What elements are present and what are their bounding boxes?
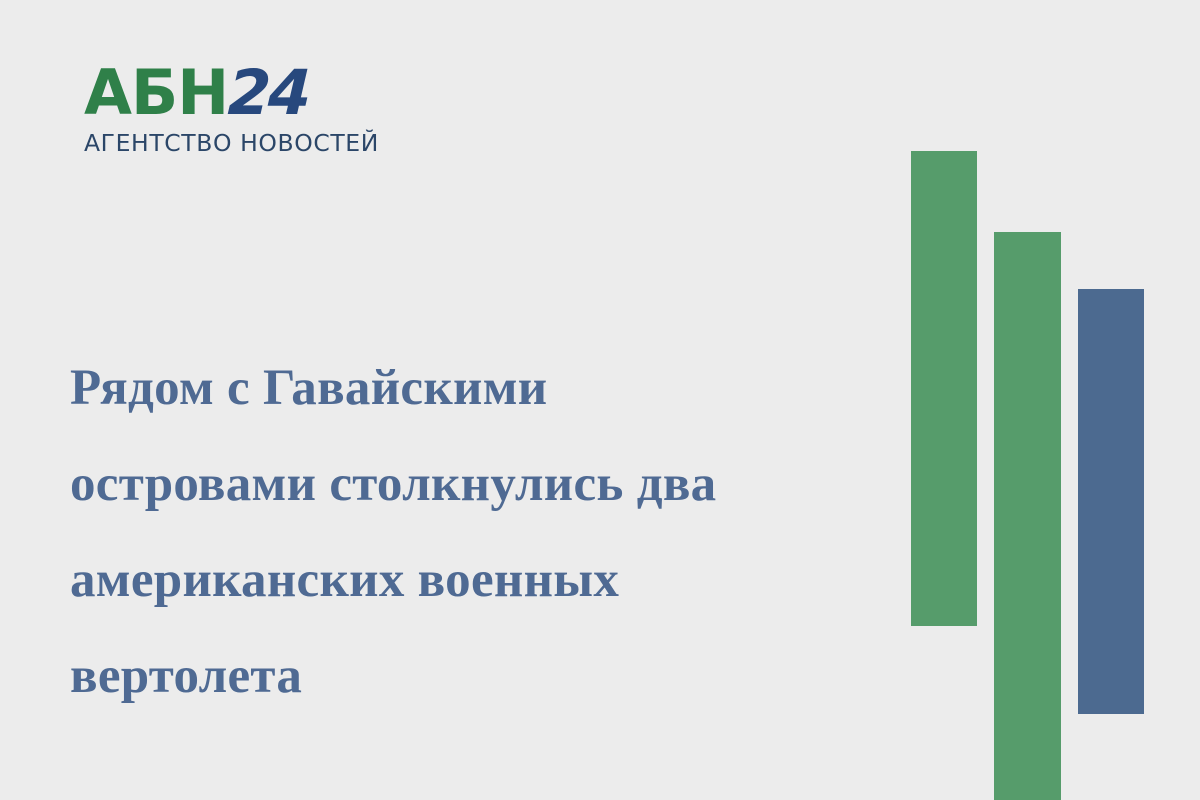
headline-line-4: вертолета (70, 628, 870, 724)
page-title: Рядом с Гавайскими островами столкнулись… (70, 340, 870, 724)
logo-wordmark-abn: АБН (84, 56, 228, 129)
decorative-bar-2 (994, 232, 1061, 800)
headline-line-2: островами столкнулись два (70, 436, 870, 532)
headline-line-3: американских военных (70, 532, 870, 628)
logo-tagline: АГЕНТСТВО НОВОСТЕЙ (84, 130, 384, 156)
logo-wordmark: АБН24 (84, 62, 384, 126)
decorative-bar-3 (1078, 289, 1144, 714)
news-card: АБН24 АГЕНТСТВО НОВОСТЕЙ Рядом с Гавайск… (0, 0, 1200, 800)
headline-line-1: Рядом с Гавайскими (70, 340, 870, 436)
logo-wordmark-24: 24 (227, 62, 309, 124)
abn24-logo[interactable]: АБН24 АГЕНТСТВО НОВОСТЕЙ (84, 62, 384, 156)
decorative-bar-1 (911, 151, 977, 626)
